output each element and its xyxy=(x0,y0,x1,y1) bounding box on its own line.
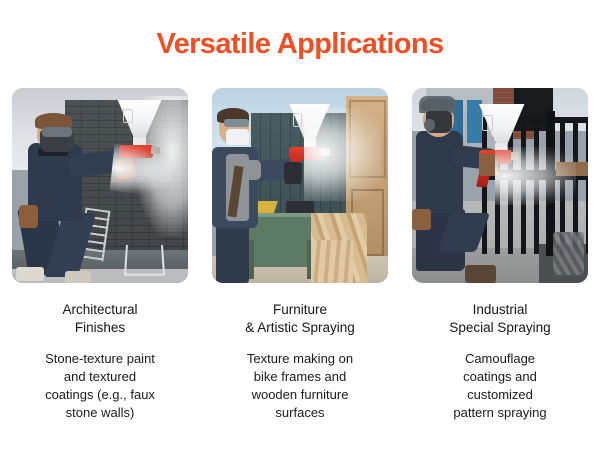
hopper-handle xyxy=(123,109,134,123)
body-line-2: coatings and xyxy=(463,369,537,384)
application-column-furniture: Furniture & Artistic Spraying Texture ma… xyxy=(212,88,388,422)
application-column-architectural: Architectural Finishes Stone-texture pai… xyxy=(12,88,188,422)
heading-line-2: Special Spraying xyxy=(449,320,550,335)
heading-line-1: Industrial xyxy=(473,302,528,317)
photo-card-industrial[interactable] xyxy=(412,88,588,283)
body-line-1: Camouflage xyxy=(465,351,535,366)
worker-coveralls-torso xyxy=(416,131,464,213)
metal-frame xyxy=(124,245,165,276)
heading-line-1: Architectural xyxy=(62,302,137,317)
card-heading-furniture: Furniture & Artistic Spraying xyxy=(212,301,388,337)
worker-boot xyxy=(465,265,497,283)
spray-mist xyxy=(304,108,381,202)
tools-pile xyxy=(553,232,585,275)
heading-line-2: & Artistic Spraying xyxy=(245,320,355,335)
heading-line-1: Furniture xyxy=(273,302,327,317)
photo-card-furniture[interactable] xyxy=(212,88,388,283)
page-title: Versatile Applications xyxy=(0,27,600,61)
spray-mist xyxy=(495,147,576,206)
body-line-3: wooden furniture xyxy=(252,387,349,402)
card-heading-industrial: Industrial Special Spraying xyxy=(412,301,588,337)
card-body-furniture: Texture making on bike frames and wooden… xyxy=(212,350,388,422)
heading-line-2: Finishes xyxy=(75,320,125,335)
man-glove xyxy=(284,162,302,183)
worker-boot-left xyxy=(16,267,44,281)
body-line-3: customized xyxy=(467,387,533,402)
body-line-3: coatings (e.g., faux xyxy=(45,387,155,402)
dust-mask-icon xyxy=(226,129,249,145)
worker-glove-left xyxy=(19,205,38,228)
body-line-4: surfaces xyxy=(275,405,324,420)
application-column-industrial: Industrial Special Spraying Camouflage c… xyxy=(412,88,588,422)
respirator-filter xyxy=(424,119,435,131)
body-line-4: pattern spraying xyxy=(453,405,546,420)
safety-goggles-icon xyxy=(224,119,249,127)
hopper-handle xyxy=(482,115,493,131)
body-line-1: Texture making on xyxy=(247,351,353,366)
body-line-2: and textured xyxy=(64,369,136,384)
versatile-applications-page: Versatile Applications xyxy=(0,0,600,450)
worker-boot-right xyxy=(65,271,91,283)
worker-glove-left xyxy=(412,209,431,230)
hopper-handle xyxy=(293,113,302,127)
lumber-stack-foreground xyxy=(311,240,353,283)
photo-card-architectural[interactable] xyxy=(12,88,188,283)
man-sleeve xyxy=(244,160,262,180)
man-leg xyxy=(216,221,249,283)
body-line-2: bike frames and xyxy=(254,369,347,384)
card-heading-architectural: Architectural Finishes xyxy=(12,301,188,337)
card-body-industrial: Camouflage coatings and customized patte… xyxy=(412,350,588,422)
applications-columns: Architectural Finishes Stone-texture pai… xyxy=(12,88,588,422)
body-line-1: Stone-texture paint xyxy=(45,351,155,366)
body-line-4: stone walls) xyxy=(66,405,135,420)
card-body-architectural: Stone-texture paint and textured coating… xyxy=(12,350,188,422)
spray-mist xyxy=(110,144,174,197)
respirator-visor xyxy=(42,127,72,137)
